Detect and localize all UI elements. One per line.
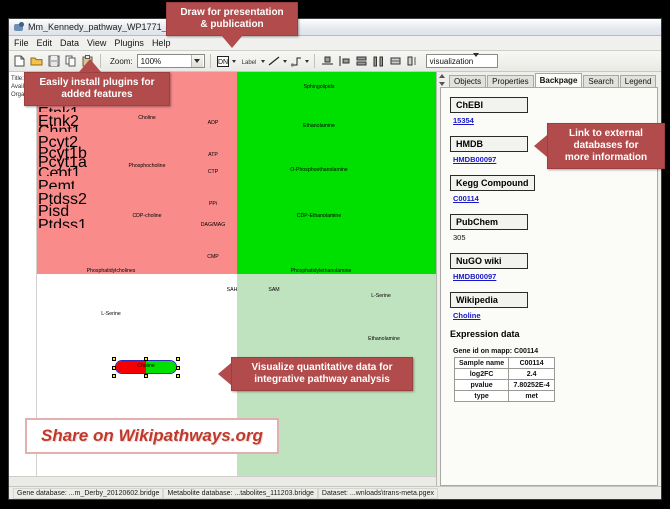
exp-key: log2FC xyxy=(455,369,509,380)
chevron-down-icon[interactable] xyxy=(283,60,287,63)
callout-arrow-down-draw xyxy=(221,35,243,48)
selection-handle[interactable] xyxy=(112,374,116,378)
callout-visualize-quantitative-data: Visualize quantitative data for integrat… xyxy=(231,357,413,391)
gene-id-on-mapp: Gene id on mapp: C00114 xyxy=(453,348,657,355)
menu-item-plugins[interactable]: Plugins xyxy=(114,38,144,48)
selection-handle[interactable] xyxy=(144,374,148,378)
window-titlebar: Mm_Kennedy_pathway_WP1771_45176.gpml xyxy=(9,19,661,36)
selection-handle[interactable] xyxy=(112,366,116,370)
exp-key: pvalue xyxy=(455,380,509,391)
node-pcyt1a[interactable]: Pcyt1a xyxy=(37,154,93,164)
stack-icon[interactable] xyxy=(354,53,369,69)
side-panel-tabs: Objects Properties Backpage Search Legen… xyxy=(437,72,661,87)
callout-line-2: integrative pathway analysis xyxy=(240,374,404,386)
selection-handle[interactable] xyxy=(176,357,180,361)
visualization-value: visualization xyxy=(430,57,474,66)
callout-line-1: Visualize quantitative data for xyxy=(240,362,404,374)
callout-arrow-left-links xyxy=(534,135,547,157)
exp-value: 2.4 xyxy=(509,369,555,380)
selection-handle[interactable] xyxy=(112,357,116,361)
status-bar: Gene database: ...m_Derby_20120602.bridg… xyxy=(9,486,661,499)
exp-value: 7.80252E-4 xyxy=(509,380,555,391)
db-link-kegg-compound[interactable]: C00114 xyxy=(453,194,657,203)
db-link-nugo-wiki[interactable]: HMDB00097 xyxy=(453,272,657,281)
tab-scroll-arrows[interactable] xyxy=(439,74,447,86)
menu-item-view[interactable]: View xyxy=(87,38,106,48)
chevron-down-icon[interactable] xyxy=(305,60,309,63)
callout-line-2: added features xyxy=(33,89,161,101)
ungroup-icon[interactable] xyxy=(405,53,420,69)
table-row: log2FC 2.4 xyxy=(455,369,555,380)
selection-handle[interactable] xyxy=(144,357,148,361)
db-header-chebi: ChEBI xyxy=(450,97,528,113)
callout-line-2: databases for xyxy=(556,140,656,152)
menubar: File Edit Data View Plugins Help xyxy=(9,36,661,51)
status-dataset: Dataset: ...wnloads\trans-meta.pgex xyxy=(318,488,438,499)
node-pcyt1b[interactable]: Pcyt1b xyxy=(37,144,93,154)
interaction-icon[interactable] xyxy=(289,53,304,69)
callout-line-1: Easily install plugins for xyxy=(33,77,161,89)
open-icon[interactable] xyxy=(29,53,44,69)
align-left-icon[interactable] xyxy=(337,53,352,69)
db-value-pubchem: 305 xyxy=(453,233,657,242)
copy-icon[interactable] xyxy=(63,53,78,69)
tab-legend[interactable]: Legend xyxy=(620,75,657,87)
datanode-icon[interactable]: DN xyxy=(216,53,231,69)
callout-share-on-wikipathways: Share on Wikipathways.org xyxy=(25,418,279,454)
db-header-pubchem: PubChem xyxy=(450,214,528,230)
callout-easily-install-plugins: Easily install plugins for added feature… xyxy=(24,72,170,106)
tab-search[interactable]: Search xyxy=(583,75,618,87)
menu-item-data[interactable]: Data xyxy=(60,38,79,48)
group-icon[interactable] xyxy=(388,53,403,69)
line-tool[interactable] xyxy=(267,53,287,69)
status-metabolite-database: Metabolite database: ...tabolites_111203… xyxy=(163,488,317,499)
node-choline-bottom-selected[interactable]: Choline xyxy=(115,360,177,374)
canvas-horizontal-scrollbar[interactable] xyxy=(9,476,436,486)
db-header-nugo-wiki: NuGO wiki xyxy=(450,253,528,269)
db-header-hmdb: HMDB xyxy=(450,136,528,152)
tab-objects[interactable]: Objects xyxy=(449,75,486,87)
label-tool[interactable]: Label xyxy=(238,53,265,69)
expression-data-heading: Expression data xyxy=(450,329,657,339)
table-row: type met xyxy=(455,391,555,402)
exp-value: C00114 xyxy=(509,358,555,369)
visualization-combobox[interactable]: visualization xyxy=(426,54,498,68)
callout-line-2: & publication xyxy=(175,19,289,31)
tab-backpage[interactable]: Backpage xyxy=(535,73,583,87)
chevron-down-icon[interactable] xyxy=(232,60,236,63)
pathway-diagram[interactable]: Sphingolipids Sgpl1 Choline xyxy=(37,72,436,476)
interaction-tool[interactable] xyxy=(289,53,309,69)
datanode-tool[interactable]: DN xyxy=(216,53,236,69)
distribute-icon[interactable] xyxy=(371,53,386,69)
share-text: Share on Wikipathways.org xyxy=(41,426,263,445)
callout-line-1: Draw for presentation xyxy=(175,7,289,19)
db-header-wikipedia: Wikipedia xyxy=(450,292,528,308)
selection-handle[interactable] xyxy=(176,366,180,370)
menu-item-file[interactable]: File xyxy=(14,38,29,48)
callout-draw-for-presentation: Draw for presentation & publication xyxy=(166,2,298,36)
menu-item-help[interactable]: Help xyxy=(152,38,171,48)
exp-value: met xyxy=(509,391,555,402)
status-gene-database: Gene database: ...m_Derby_20120602.bridg… xyxy=(13,488,163,499)
zoom-label: Zoom: xyxy=(110,57,133,66)
exp-key: Sample name xyxy=(455,358,509,369)
tab-properties[interactable]: Properties xyxy=(487,75,533,87)
callout-line-3: more information xyxy=(556,152,656,164)
chevron-down-icon[interactable] xyxy=(473,57,479,66)
exp-key: type xyxy=(455,391,509,402)
table-row: pvalue 7.80252E-4 xyxy=(455,380,555,391)
svg-text:DN: DN xyxy=(218,59,228,66)
zoom-value: 100% xyxy=(141,57,161,66)
app-icon xyxy=(13,22,24,33)
svg-text:Label: Label xyxy=(241,60,256,66)
save-icon[interactable] xyxy=(46,53,61,69)
toolbar-separator xyxy=(210,54,211,68)
node-ptdss1[interactable]: Ptdss1 xyxy=(37,216,103,229)
selection-handle[interactable] xyxy=(176,374,180,378)
callout-line-1: Link to external xyxy=(556,128,656,140)
main-toolbar: Zoom: 100% DN Label xyxy=(9,51,661,72)
node-pemt[interactable]: Pemt xyxy=(37,177,75,190)
label-icon[interactable]: Label xyxy=(238,53,260,69)
callout-arrow-up-plugins xyxy=(79,59,101,72)
db-header-kegg-compound: Kegg Compound xyxy=(450,175,535,191)
expression-data-table: Sample name C00114 log2FC 2.4 pvalue 7.8… xyxy=(454,357,555,402)
zoom-combobox[interactable]: 100% xyxy=(137,54,205,68)
menu-item-edit[interactable]: Edit xyxy=(37,38,53,48)
callout-link-external-databases: Link to external databases for more info… xyxy=(547,123,665,169)
align-top-icon[interactable] xyxy=(320,53,335,69)
callout-arrow-left-visualize xyxy=(218,363,231,385)
table-row: Sample name C00114 xyxy=(455,358,555,369)
chevron-down-icon[interactable] xyxy=(191,55,203,67)
chevron-down-icon[interactable] xyxy=(261,60,265,63)
db-link-wikipedia[interactable]: Choline xyxy=(453,311,657,320)
new-icon[interactable] xyxy=(12,53,27,69)
toolbar-separator xyxy=(314,54,315,68)
line-icon[interactable] xyxy=(267,53,282,69)
